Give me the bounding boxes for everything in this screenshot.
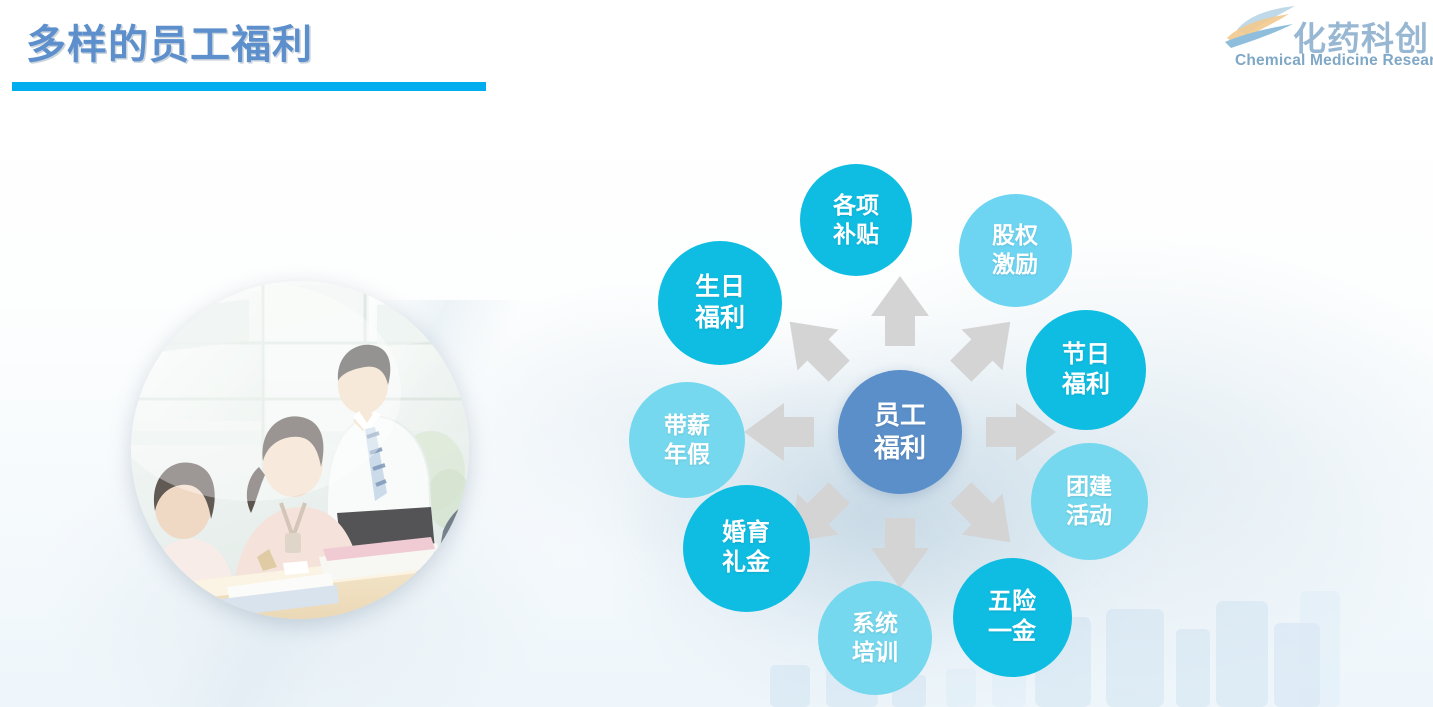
radial-arrow-1 — [871, 276, 929, 346]
node-label-line2: 激励 — [992, 250, 1038, 279]
diagram-node-holiday-benefits[interactable]: 节日福利 — [1026, 310, 1146, 430]
radial-arrow-4 — [940, 472, 1031, 563]
center-label-line2: 福利 — [874, 432, 926, 465]
office-team-meeting-photo — [131, 281, 469, 619]
node-label-line2: 培训 — [852, 638, 898, 667]
radial-arrow-5 — [871, 518, 929, 588]
diagram-node-paid-annual-leave[interactable]: 带薪年假 — [629, 382, 745, 498]
diagram-node-allowances[interactable]: 各项补贴 — [800, 164, 912, 276]
node-label-line1: 团建 — [1066, 472, 1112, 501]
diagram-node-systematic-training[interactable]: 系统培训 — [818, 581, 932, 695]
node-label-line2: 福利 — [695, 303, 745, 335]
slide-canvas: 多样的员工福利 化药科创 Chemical Medicine Research — [0, 0, 1433, 707]
title-underline-rule — [12, 82, 486, 91]
node-label-line2: 福利 — [1062, 370, 1110, 400]
page-title: 多样的员工福利 — [26, 12, 313, 70]
swoosh-logo-icon — [1221, 4, 1301, 50]
employee-benefits-diagram: 员工 福利 各项补贴股权激励节日福利团建活动五险一金系统培训婚育礼金带薪年假生日… — [600, 140, 1180, 700]
center-label-line1: 员工 — [874, 399, 926, 432]
node-label-line1: 节日 — [1062, 340, 1110, 370]
node-label-line1: 各项 — [833, 191, 879, 220]
node-label-line1: 系统 — [852, 609, 898, 638]
radial-arrow-7 — [744, 403, 814, 461]
radial-arrow-2 — [940, 301, 1031, 392]
node-label-line1: 股权 — [992, 221, 1038, 250]
diagram-node-birthday-benefits[interactable]: 生日福利 — [658, 241, 782, 365]
node-label-line1: 五险 — [988, 587, 1036, 617]
diagram-center-node[interactable]: 员工 福利 — [838, 370, 962, 494]
diagram-node-team-building[interactable]: 团建活动 — [1031, 443, 1148, 560]
node-label-line2: 礼金 — [722, 548, 770, 578]
node-label-line2: 一金 — [988, 617, 1036, 647]
node-label-line1: 婚育 — [722, 518, 770, 548]
diagram-node-equity-incentive[interactable]: 股权激励 — [959, 194, 1072, 307]
node-label-line1: 生日 — [695, 272, 745, 304]
diagram-node-social-insurance[interactable]: 五险一金 — [953, 558, 1072, 677]
node-label-line2: 补贴 — [833, 220, 879, 249]
diagram-node-wedding-maternity-gift[interactable]: 婚育礼金 — [683, 485, 810, 612]
node-label-line2: 年假 — [664, 440, 710, 469]
brand-logo: 化药科创 Chemical Medicine Research — [1215, 2, 1429, 78]
team-photo-circle — [131, 281, 469, 619]
radial-arrow-8 — [769, 301, 860, 392]
node-label-line2: 活动 — [1066, 501, 1112, 530]
node-label-line1: 带薪 — [664, 411, 710, 440]
logo-english-name: Chemical Medicine Research — [1235, 52, 1433, 70]
